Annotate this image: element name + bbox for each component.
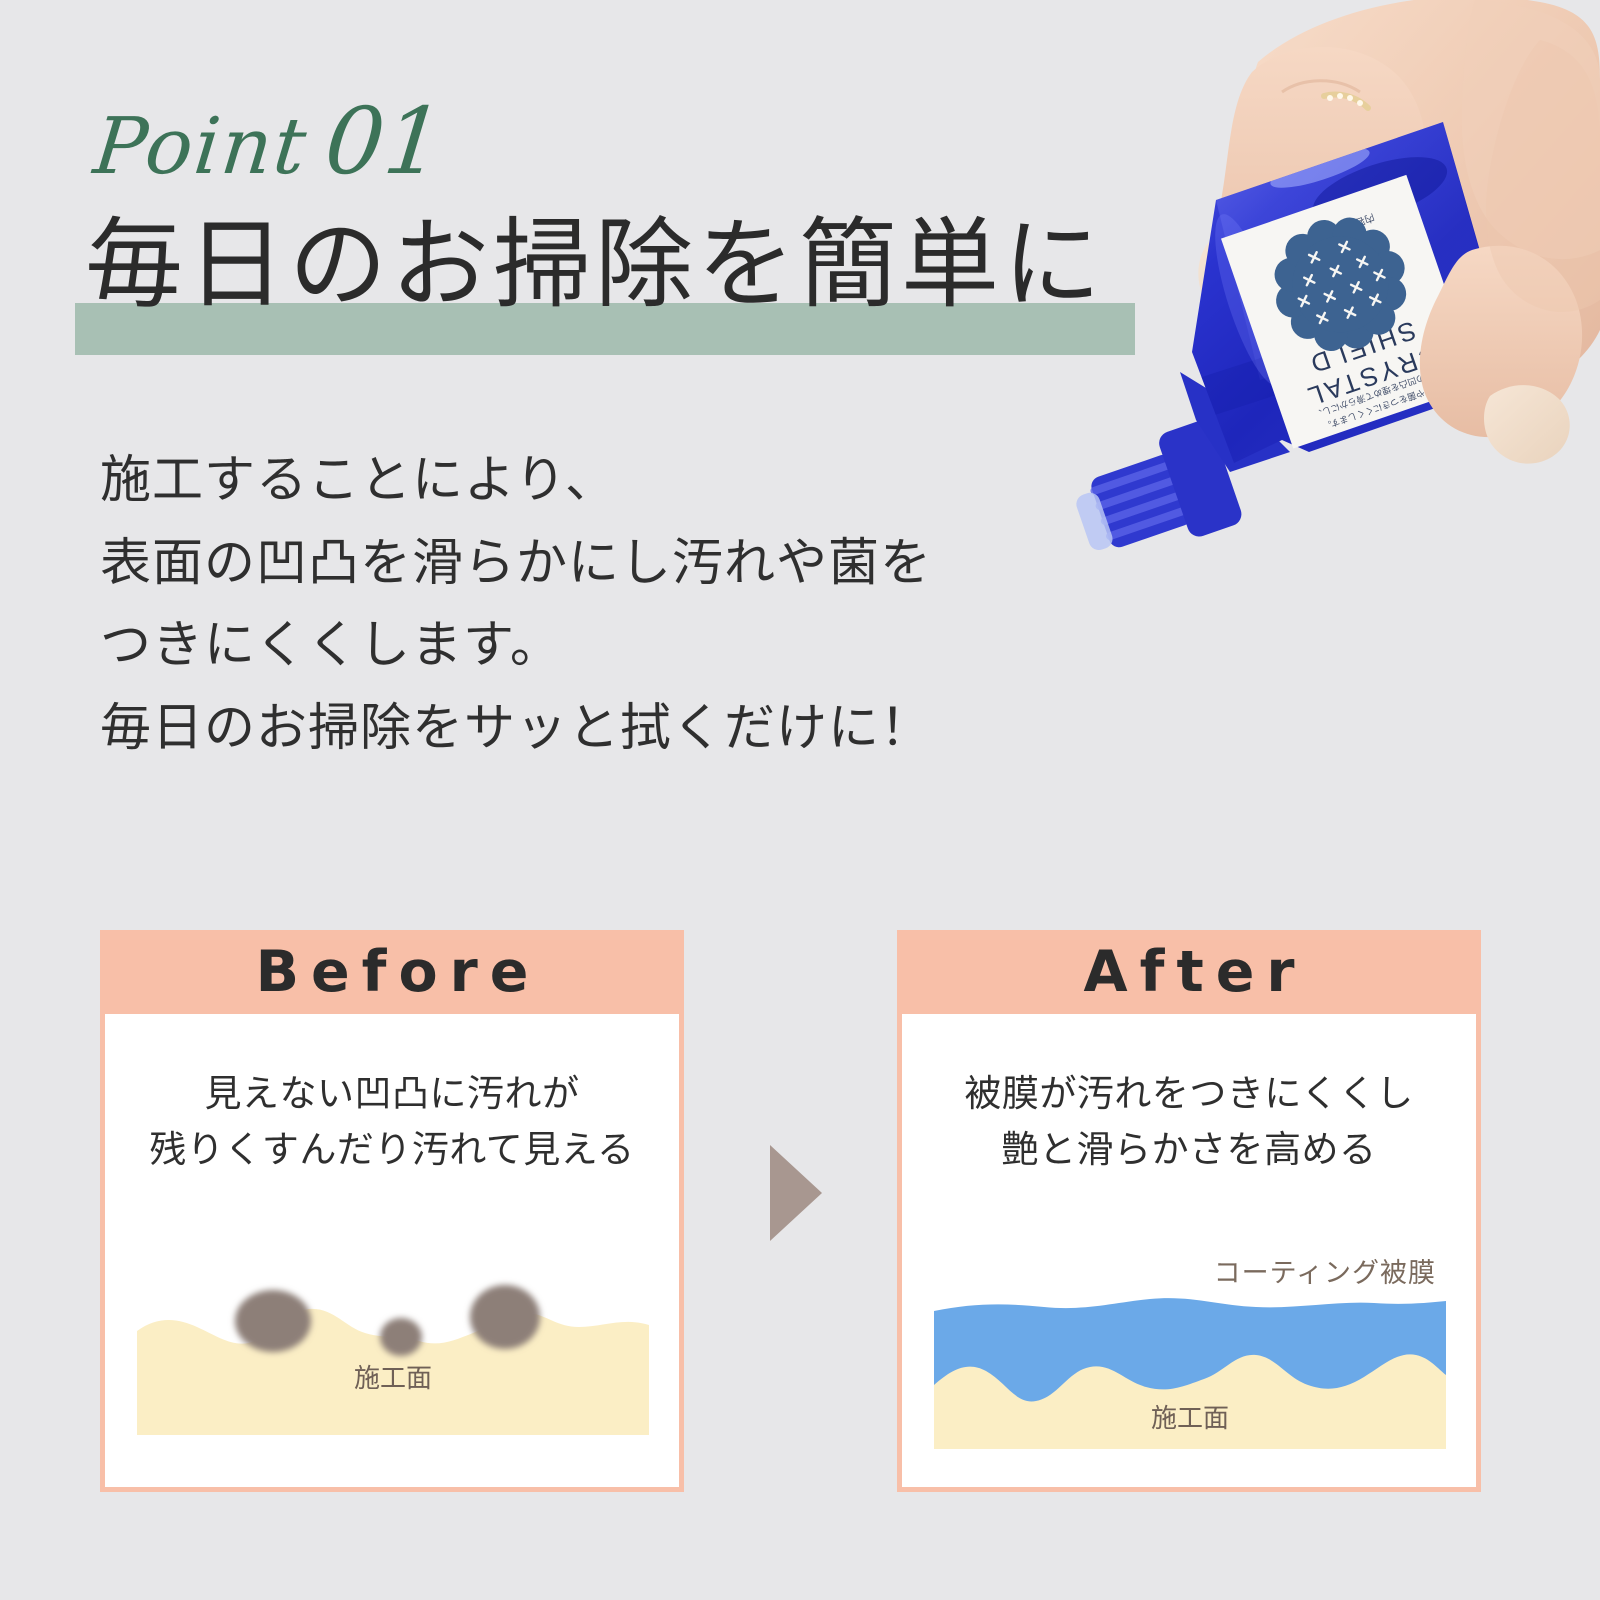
after-header-label: After [1072,939,1307,1005]
before-card-header: Before [100,930,684,1014]
after-diagram-svg: 施工面 [934,1289,1446,1449]
before-diagram: 施工面 [137,1275,649,1435]
before-caption-line-1: 見えない凹凸に汚れが [105,1066,679,1122]
before-caption: 見えない凹凸に汚れが 残りくすんだり汚れて見える [105,1066,679,1177]
before-card: 見えない凹凸に汚れが 残りくすんだり汚れて見える 施工面 [100,1014,684,1492]
after-caption-line-1: 被膜が汚れをつきにくくし [902,1066,1476,1122]
after-card: 被膜が汚れをつきにくくし 艶と滑らかさを高める コーティング被膜 施工面 [897,1014,1481,1492]
after-card-header: After [897,930,1481,1014]
dirt-blobs [235,1285,540,1356]
before-header-label: Before [244,939,541,1005]
comparison-arrow-icon [770,1145,822,1241]
coating-label: コーティング被膜 [1214,1251,1436,1290]
after-caption: 被膜が汚れをつきにくくし 艶と滑らかさを高める [902,1066,1476,1177]
after-diagram: コーティング被膜 施工面 [934,1257,1446,1447]
after-caption-line-2: 艶と滑らかさを高める [902,1122,1476,1178]
before-surface-label: 施工面 [354,1364,432,1394]
comparison-section: Before 見えない凹凸に汚れが 残りくすんだり汚れて見える [0,0,1600,1600]
before-diagram-svg: 施工面 [137,1275,649,1435]
after-surface-label: 施工面 [1151,1404,1229,1434]
before-caption-line-2: 残りくすんだり汚れて見える [105,1122,679,1178]
